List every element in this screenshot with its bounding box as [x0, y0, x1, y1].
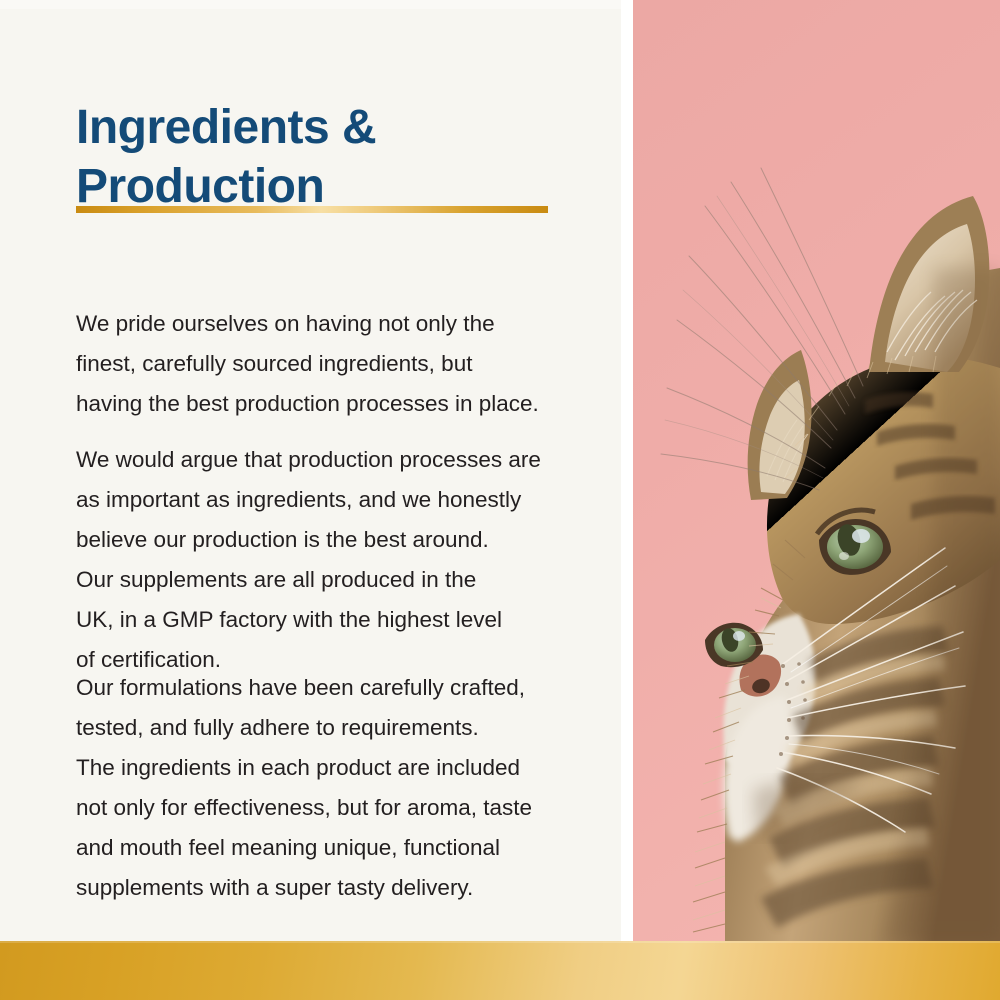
footer-gold-band: [0, 941, 1000, 1000]
cat-photo-image: [633, 0, 1000, 941]
body-paragraph-3: Our formulations have been carefully cra…: [76, 668, 581, 908]
body-paragraph-1: We pride ourselves on having not only th…: [76, 304, 581, 424]
text-panel: Ingredients & Production We pride oursel…: [0, 0, 621, 941]
marketing-panel: Ingredients & Production We pride oursel…: [0, 0, 1000, 1000]
cat-photo: [633, 0, 1000, 941]
page-title: Ingredients & Production: [76, 98, 576, 216]
body-paragraph-2: We would argue that production processes…: [76, 440, 581, 680]
title-divider: [76, 206, 548, 213]
